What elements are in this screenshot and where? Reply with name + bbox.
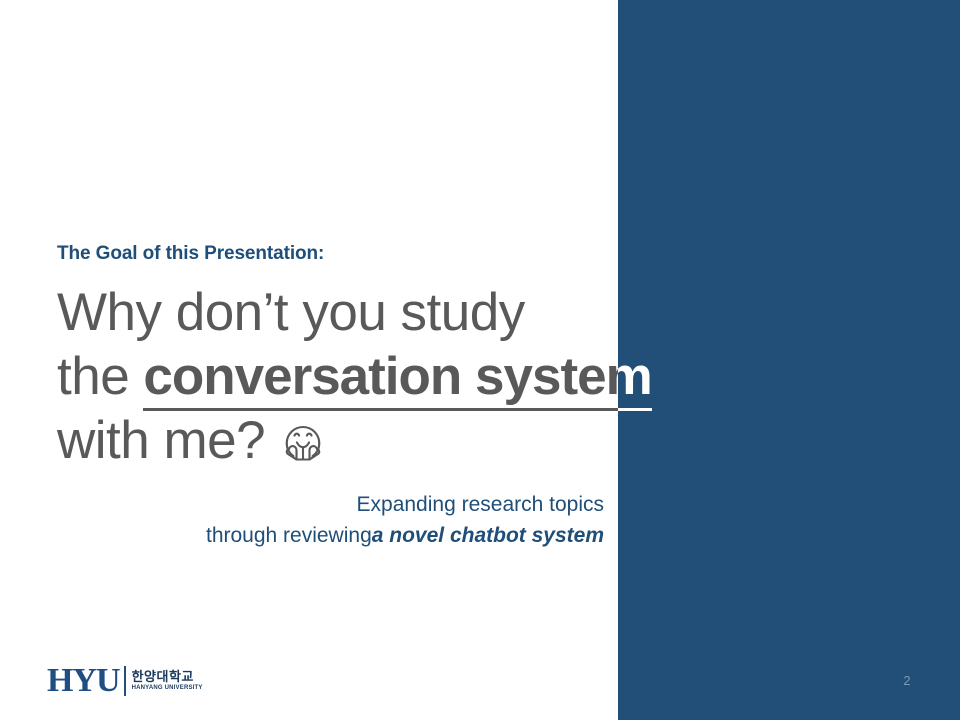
headline-emphasis-text: conversation system — [143, 347, 651, 411]
hugging-face-emoji — [277, 414, 329, 466]
logo-name-block: 한양대학교 HANYANG UNIVERSITY — [132, 670, 203, 692]
presentation-slide: The Goal of this Presentation: Why don’t… — [0, 0, 960, 720]
headline-line-2-prefix: the — [57, 347, 143, 406]
hyu-wordmark: HYU — [47, 664, 120, 698]
headline-line-3-knockout: with me? — [618, 409, 937, 473]
subtitle-line-1: Expanding research topics — [120, 489, 604, 520]
subtitle-line-1-text: Expanding research topics — [357, 493, 604, 516]
headline-line-1-knockout: Why don’t you study — [618, 281, 937, 345]
subtitle-line-2-prefix: through reviewing — [206, 524, 372, 547]
headline-line-1-text: Why don’t you study — [57, 283, 525, 342]
hyu-logo: HYU 한양대학교 HANYANG UNIVERSITY — [47, 663, 203, 699]
slide-headline-knockout: Why don’t you study the conversation sys… — [618, 281, 937, 473]
headline-emphasis-knockout-text: conversation system — [618, 347, 652, 411]
slide-kicker: The Goal of this Presentation: — [57, 243, 324, 265]
headline-emphasis: conversation system — [143, 347, 651, 411]
subtitle-line-2: through reviewinga novel chatbot system — [120, 520, 604, 551]
logo-english-name: HANYANG UNIVERSITY — [132, 684, 203, 692]
headline-emphasis-knockout: conversation system — [618, 347, 652, 411]
subtitle-emphasis: a novel chatbot system — [372, 524, 604, 547]
headline-line-3-text: with me? — [57, 411, 265, 470]
page-number: 2 — [895, 673, 919, 688]
headline-line-2-knockout: the conversation system — [618, 345, 937, 409]
logo-divider — [124, 666, 126, 696]
slide-subtitle: Expanding research topics through review… — [120, 489, 604, 551]
headline-knockout-layer: Why don’t you study the conversation sys… — [618, 281, 960, 481]
logo-korean-name: 한양대학교 — [132, 670, 203, 684]
